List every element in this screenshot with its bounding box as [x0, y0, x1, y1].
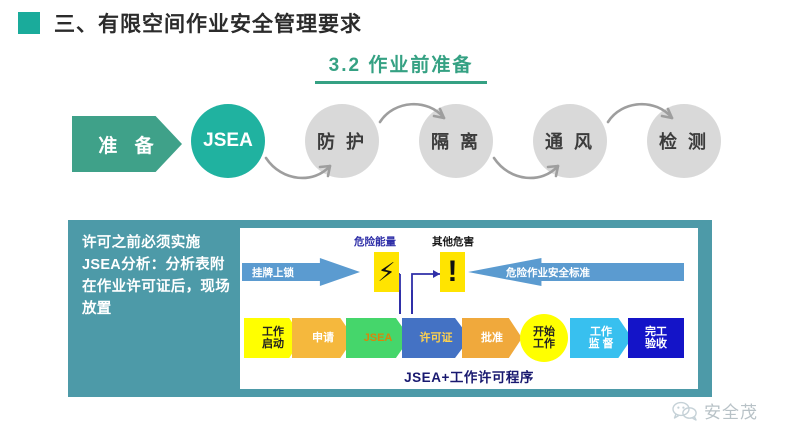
- step-label: 开始 工作: [533, 326, 555, 351]
- lightning-bolt-glyph: ⚡: [377, 259, 395, 285]
- flow-start-label: 准 备: [94, 131, 159, 158]
- flow-start-chevron: 准 备: [72, 116, 182, 172]
- page-title: 三、有限空间作业安全管理要求: [54, 8, 362, 38]
- flow-connector-arrow-4: [604, 90, 684, 130]
- step-label: 许可证: [420, 332, 453, 344]
- step-label: 工作 监 督: [588, 326, 613, 351]
- preparation-flow: 准 备 JSEA 防 护 隔 离 通 风 检 测: [0, 104, 798, 196]
- flow-node-label: 防 护: [317, 128, 367, 154]
- step-completion-acceptance: 完工 验收: [628, 318, 684, 358]
- flow-connector-arrow-3: [490, 152, 570, 192]
- step-label: 完工 验收: [645, 326, 667, 351]
- watermark-text: 安全茂: [704, 398, 758, 423]
- exclamation-hazard-icon: !: [440, 252, 465, 292]
- step-approval: 批准: [462, 318, 522, 358]
- step-begin-work: 开始 工作: [520, 314, 568, 362]
- jsea-panel-note: 许可之前必须实施JSEA分析：分析表附在作业许可证后，现场放置: [82, 232, 232, 320]
- step-label: 批准: [481, 332, 503, 344]
- section-subtitle-underline: [315, 81, 487, 84]
- step-label: JSEA: [364, 332, 393, 344]
- step-application: 申请: [292, 318, 354, 358]
- header-bullet-icon: [18, 12, 40, 34]
- step-work-supervision: 工作 监 督: [570, 318, 632, 358]
- slide-header: 三、有限空间作业安全管理要求: [18, 8, 362, 38]
- watermark: 安全茂: [672, 398, 758, 423]
- wechat-icon: [672, 401, 698, 421]
- flow-connector-arrow-1: [262, 152, 342, 192]
- jsea-panel: 许可之前必须实施JSEA分析：分析表附在作业许可证后，现场放置 危险能量 其他危…: [68, 220, 712, 397]
- flow-connector-arrow-2: [376, 90, 456, 130]
- flow-node-jsea: JSEA: [191, 104, 265, 178]
- flow-node-label: 隔 离: [431, 128, 481, 154]
- hazard-label-energy: 危险能量: [354, 234, 396, 249]
- hazard-label-other: 其他危害: [432, 234, 474, 249]
- step-permit: 许可证: [402, 318, 470, 358]
- step-label: 工作 启动: [262, 326, 284, 351]
- permit-process-chain: 工作 启动 申请 JSEA 许可证 批准 开始 工作 工作 监: [240, 318, 698, 362]
- slide-canvas: 三、有限空间作业安全管理要求 3.2 作业前准备 准 备 JSEA 防 护 隔 …: [0, 0, 798, 432]
- exclamation-hazard-glyph: !: [448, 257, 458, 287]
- flow-node-label: JSEA: [203, 130, 253, 152]
- arrow-hazard-safety-standard-label: 危险作业安全标准: [506, 265, 590, 280]
- section-subtitle-text: 3.2 作业前准备: [315, 50, 487, 77]
- arrow-lockout-tagout-label: 挂牌上锁: [252, 265, 294, 280]
- diagram-caption: JSEA+工作许可程序: [240, 366, 698, 386]
- diagram-wires: [240, 228, 698, 389]
- lightning-bolt-icon: ⚡: [374, 252, 399, 292]
- arrow-lockout-tagout: 挂牌上锁: [242, 258, 360, 286]
- flow-node-label: 通 风: [545, 128, 595, 154]
- section-subtitle: 3.2 作业前准备: [315, 50, 487, 84]
- arrow-hazard-safety-standard: 危险作业安全标准: [468, 258, 684, 286]
- step-label: 申请: [312, 332, 334, 344]
- jsea-diagram: 危险能量 其他危害 挂牌上锁 危险作业安全标准 ⚡ ! 工作 启动: [240, 228, 698, 389]
- step-jsea: JSEA: [346, 318, 410, 358]
- flow-node-label: 检 测: [659, 128, 709, 154]
